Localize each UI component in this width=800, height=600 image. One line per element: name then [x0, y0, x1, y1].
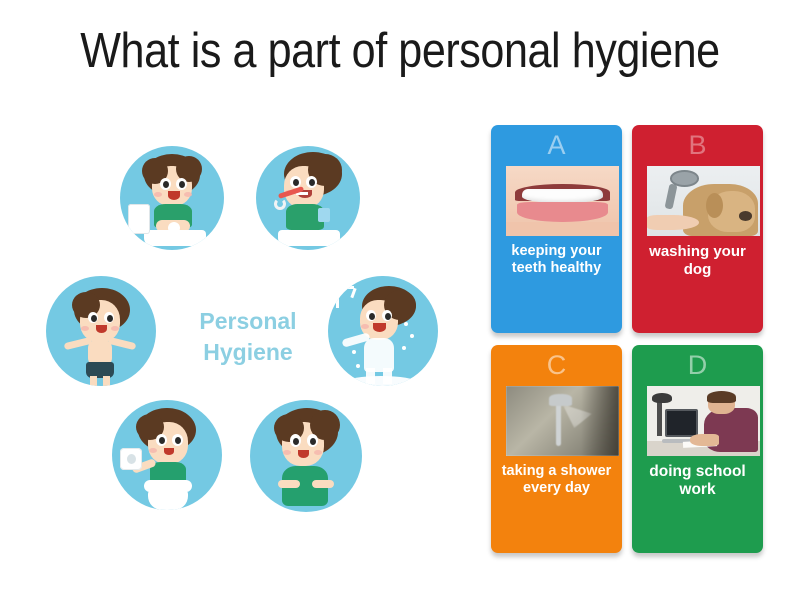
answer-letter-a: A — [491, 128, 622, 162]
answer-label-a: keeping your teeth healthy — [494, 243, 619, 277]
clean-clothes-icon — [250, 400, 362, 512]
answer-letter-d: D — [632, 348, 763, 382]
shower-photo — [506, 386, 619, 456]
washing-dog-photo — [647, 166, 760, 236]
page-title: What is a part of personal hygiene — [48, 22, 752, 80]
answer-label-b: washing your dog — [635, 243, 760, 279]
answer-letter-c: C — [491, 348, 622, 382]
smiling-teeth-photo — [506, 166, 619, 236]
answer-option-d[interactable]: D doing school work — [632, 345, 763, 553]
illustration-center-label: Personal Hygiene — [174, 306, 322, 368]
answer-option-b[interactable]: B washing your dog — [632, 125, 763, 333]
center-label-line1: Personal — [174, 306, 322, 337]
clean-body-icon — [46, 276, 156, 386]
using-toilet-icon — [112, 400, 222, 510]
student-at-desk-photo — [647, 386, 760, 456]
personal-hygiene-illustration: Personal Hygiene — [28, 128, 468, 548]
quiz-slide: What is a part of personal hygiene — [0, 0, 800, 600]
taking-shower-icon — [328, 276, 438, 386]
answer-option-a[interactable]: A keeping your teeth healthy — [491, 125, 622, 333]
answer-letter-b: B — [632, 128, 763, 162]
answer-options: A keeping your teeth healthy B — [491, 125, 774, 549]
answer-label-c: taking a shower every day — [494, 463, 619, 497]
answer-label-d: doing school work — [635, 463, 760, 499]
brushing-teeth-icon — [256, 146, 360, 250]
washing-hands-icon — [120, 146, 224, 250]
answer-option-c[interactable]: C taking a shower every day — [491, 345, 622, 553]
center-label-line2: Hygiene — [174, 337, 322, 368]
